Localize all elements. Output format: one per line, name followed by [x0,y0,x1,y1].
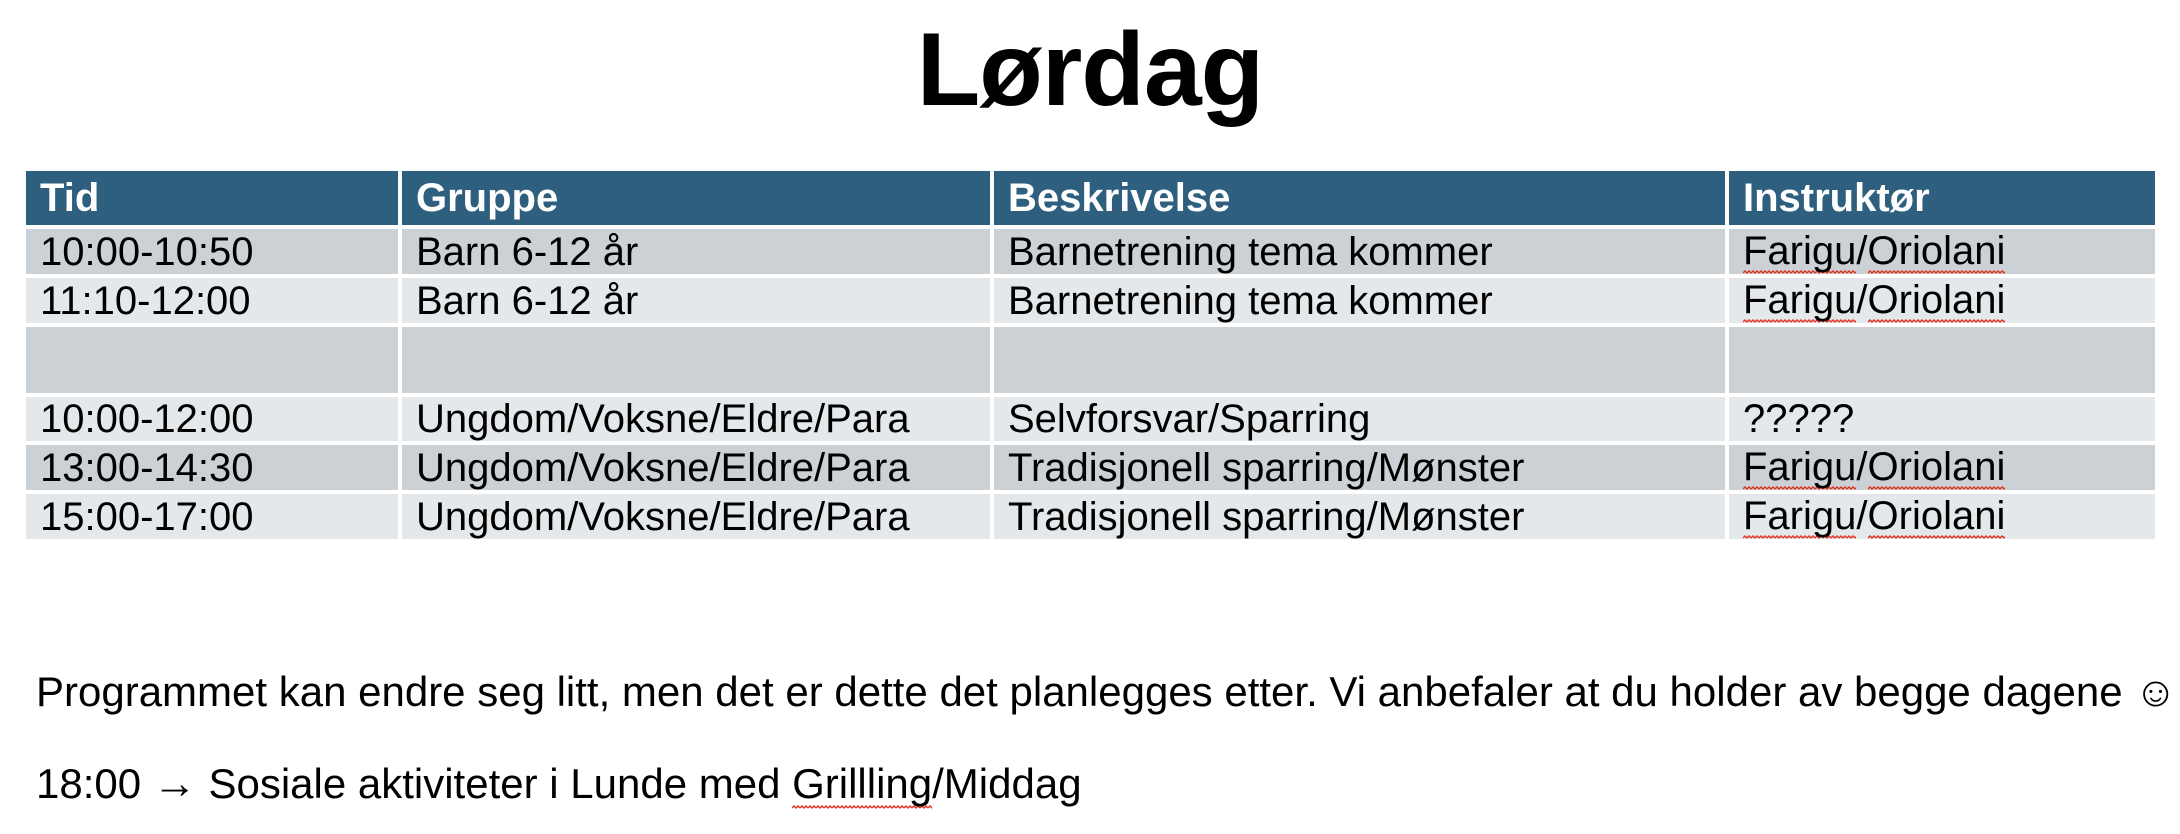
cell-instruktor: Farigu/Oriolani [1729,494,2155,539]
column-header-tid[interactable]: Tid [26,171,398,225]
cell-tid: 10:00-12:00 [26,397,398,441]
table-row[interactable]: 15:00-17:00 Ungdom/Voksne/Eldre/Para Tra… [26,494,2155,539]
misspelled-word: Oriolani [1868,445,2006,490]
misspelled-word: Oriolani [1868,278,2006,323]
column-header-instruktor[interactable]: Instruktør [1729,171,2155,225]
table-header-row: Tid Gruppe Beskrivelse Instruktør [26,171,2155,225]
separator: / [1856,445,1867,489]
table-header: Tid Gruppe Beskrivelse Instruktør [26,171,2155,225]
cell-gruppe: Ungdom/Voksne/Eldre/Para [402,445,990,490]
cell-beskrivelse: Barnetrening tema kommer [994,229,1725,274]
separator: / [1856,494,1867,538]
misspelled-word: Farigu [1743,445,1856,490]
cell-gruppe: Ungdom/Voksne/Eldre/Para [402,397,990,441]
note-social-activity: 18:00 → Sosiale aktiviteter i Lunde med … [36,760,1082,809]
cell-instruktor [1729,327,2155,393]
note-text-tail: /Middag [932,760,1081,807]
cell-beskrivelse: Tradisjonell sparring/Mønster [994,494,1725,539]
cell-beskrivelse: Tradisjonell sparring/Mønster [994,445,1725,490]
cell-gruppe: Barn 6-12 år [402,229,990,274]
cell-gruppe [402,327,990,393]
misspelled-word: Oriolani [1868,494,2006,539]
table-row[interactable]: 13:00-14:30 Ungdom/Voksne/Eldre/Para Tra… [26,445,2155,490]
slide-canvas: Lørdag Tid Gruppe Beskrivelse Instruktør… [0,0,2180,834]
table-body: 10:00-10:50 Barn 6-12 år Barnetrening te… [26,229,2155,539]
cell-tid [26,327,398,393]
misspelled-word: Farigu [1743,229,1856,274]
cell-instruktor: ????? [1729,397,2155,441]
cell-tid: 13:00-14:30 [26,445,398,490]
cell-instruktor: Farigu/Oriolani [1729,445,2155,490]
page-title: Lørdag [0,14,2180,126]
cell-tid: 15:00-17:00 [26,494,398,539]
column-header-beskrivelse[interactable]: Beskrivelse [994,171,1725,225]
table-row[interactable]: 10:00-10:50 Barn 6-12 år Barnetrening te… [26,229,2155,274]
misspelled-word: Oriolani [1868,229,2006,274]
cell-gruppe: Barn 6-12 år [402,278,990,323]
schedule-table: Tid Gruppe Beskrivelse Instruktør 10:00-… [22,167,2159,543]
note-program-change: Programmet kan endre seg litt, men det e… [36,668,2177,716]
cell-tid: 10:00-10:50 [26,229,398,274]
note-time: 18:00 [36,760,153,807]
table-row[interactable]: 10:00-12:00 Ungdom/Voksne/Eldre/Para Sel… [26,397,2155,441]
table-row[interactable]: 11:10-12:00 Barn 6-12 år Barnetrening te… [26,278,2155,323]
smiley-icon: ☺ [2134,668,2177,715]
arrow-right-icon: → [153,759,197,808]
note-text: Sosiale aktiviteter i Lunde med [197,760,792,807]
cell-instruktor: Farigu/Oriolani [1729,278,2155,323]
column-header-gruppe[interactable]: Gruppe [402,171,990,225]
table-row-empty[interactable] [26,327,2155,393]
cell-beskrivelse [994,327,1725,393]
misspelled-word: Farigu [1743,278,1856,323]
cell-beskrivelse: Selvforsvar/Sparring [994,397,1725,441]
separator: / [1856,229,1867,273]
cell-gruppe: Ungdom/Voksne/Eldre/Para [402,494,990,539]
cell-beskrivelse: Barnetrening tema kommer [994,278,1725,323]
note-text: Programmet kan endre seg litt, men det e… [36,668,2134,715]
misspelled-word: Grillling [792,760,932,809]
cell-tid: 11:10-12:00 [26,278,398,323]
misspelled-word: Farigu [1743,494,1856,539]
cell-instruktor: Farigu/Oriolani [1729,229,2155,274]
separator: / [1856,278,1867,322]
